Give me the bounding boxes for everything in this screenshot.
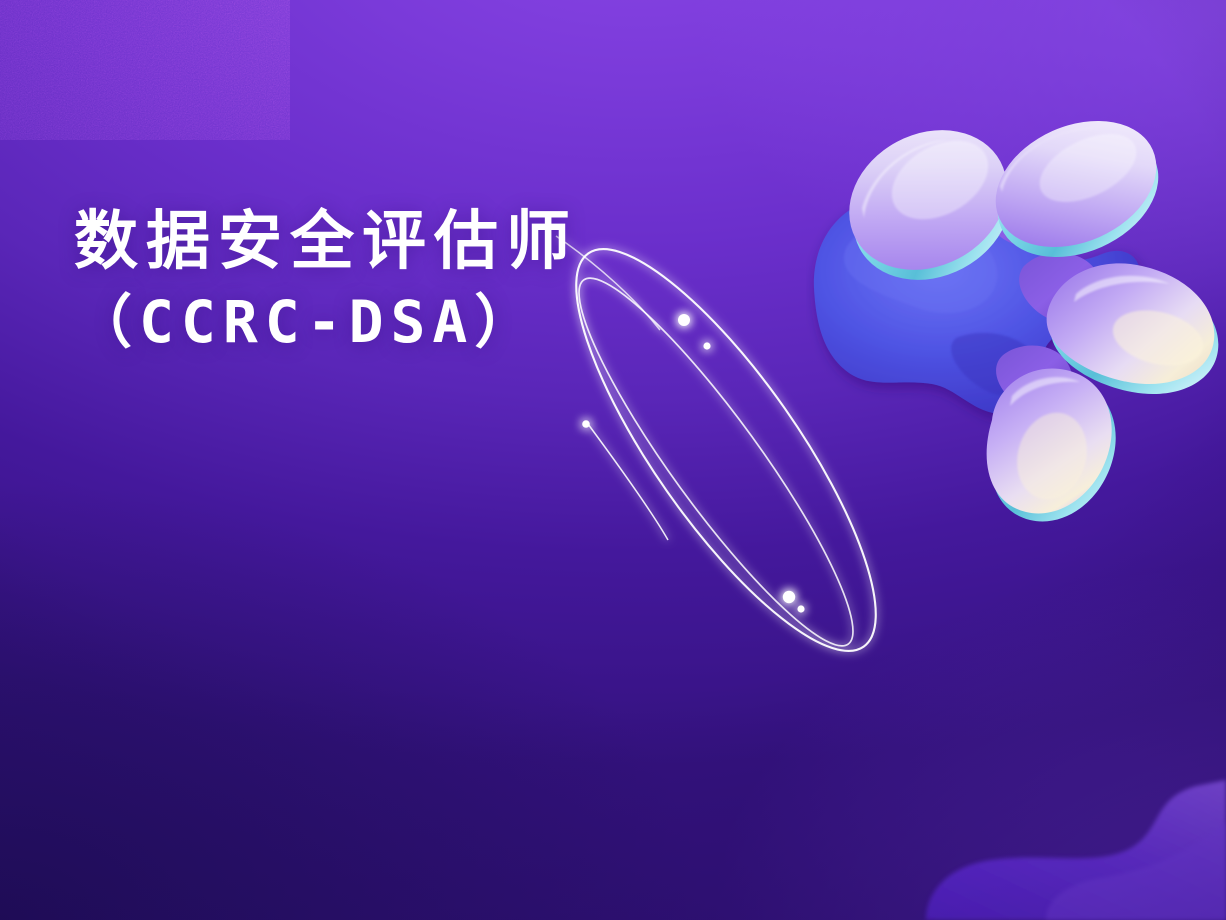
poster-headline: 数据安全评估师 （CCRC-DSA） <box>74 198 578 360</box>
page-title-line1: 数据安全评估师 <box>74 198 578 284</box>
poster-canvas: 数据安全评估师 （CCRC-DSA） <box>0 0 1226 920</box>
background-vignette <box>0 0 1226 920</box>
page-title-line2: （CCRC-DSA） <box>74 284 578 360</box>
